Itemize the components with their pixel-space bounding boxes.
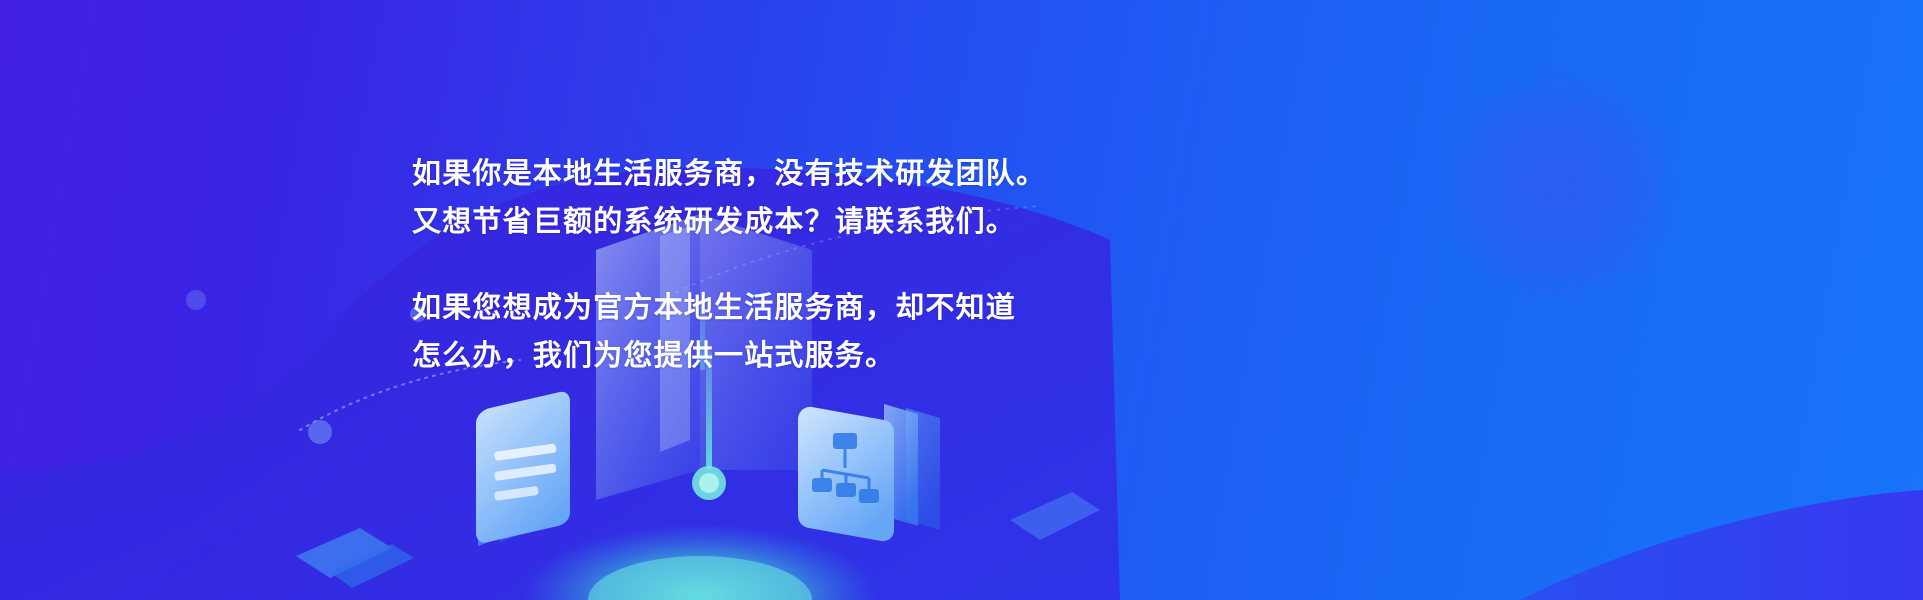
platform-ellipse-inner [588, 556, 812, 600]
document-card-back-2 [500, 406, 560, 542]
promo-banner: 如果你是本地生活服务商，没有技术研发团队。 又想节省巨额的系统研发成本？请联系我… [0, 0, 1923, 600]
dotted-circle-mid [186, 290, 206, 310]
document-card-back-1 [478, 410, 538, 546]
hierarchy-card-icon [798, 407, 894, 541]
accent-shard-right [1010, 492, 1100, 540]
accent-shard-left-2 [330, 544, 414, 588]
bottom-right-wave-shape [1520, 490, 1923, 600]
accent-shard-left [296, 528, 392, 578]
paragraph-1-line-1: 如果你是本地生活服务商，没有技术研发团队。 [412, 150, 1046, 198]
document-card-icon [476, 392, 570, 543]
paragraph-1: 如果你是本地生活服务商，没有技术研发团队。 又想节省巨额的系统研发成本？请联系我… [412, 150, 1046, 246]
dotted-circle-small [308, 420, 332, 444]
paragraph-2-line-1: 如果您想成为官方本地生活服务商，却不知道 [412, 284, 1046, 332]
document-lines-icon [494, 443, 557, 461]
paragraph-1-line-2: 又想节省巨额的系统研发成本？请联系我们。 [412, 198, 1046, 246]
paragraph-2-line-2: 怎么办，我们为您提供一站式服务。 [412, 332, 1046, 380]
org-chart-icon [812, 433, 879, 503]
banner-copy: 如果你是本地生活服务商，没有技术研发团队。 又想节省巨额的系统研发成本？请联系我… [412, 150, 1046, 380]
paragraph-2: 如果您想成为官方本地生活服务商，却不知道 怎么办，我们为您提供一站式服务。 [412, 284, 1046, 380]
hierarchy-card-back-2 [906, 408, 940, 530]
platform-ellipse-base [522, 524, 878, 600]
hierarchy-card-back-1 [884, 404, 918, 526]
right-soft-circle [1442, 70, 1678, 306]
